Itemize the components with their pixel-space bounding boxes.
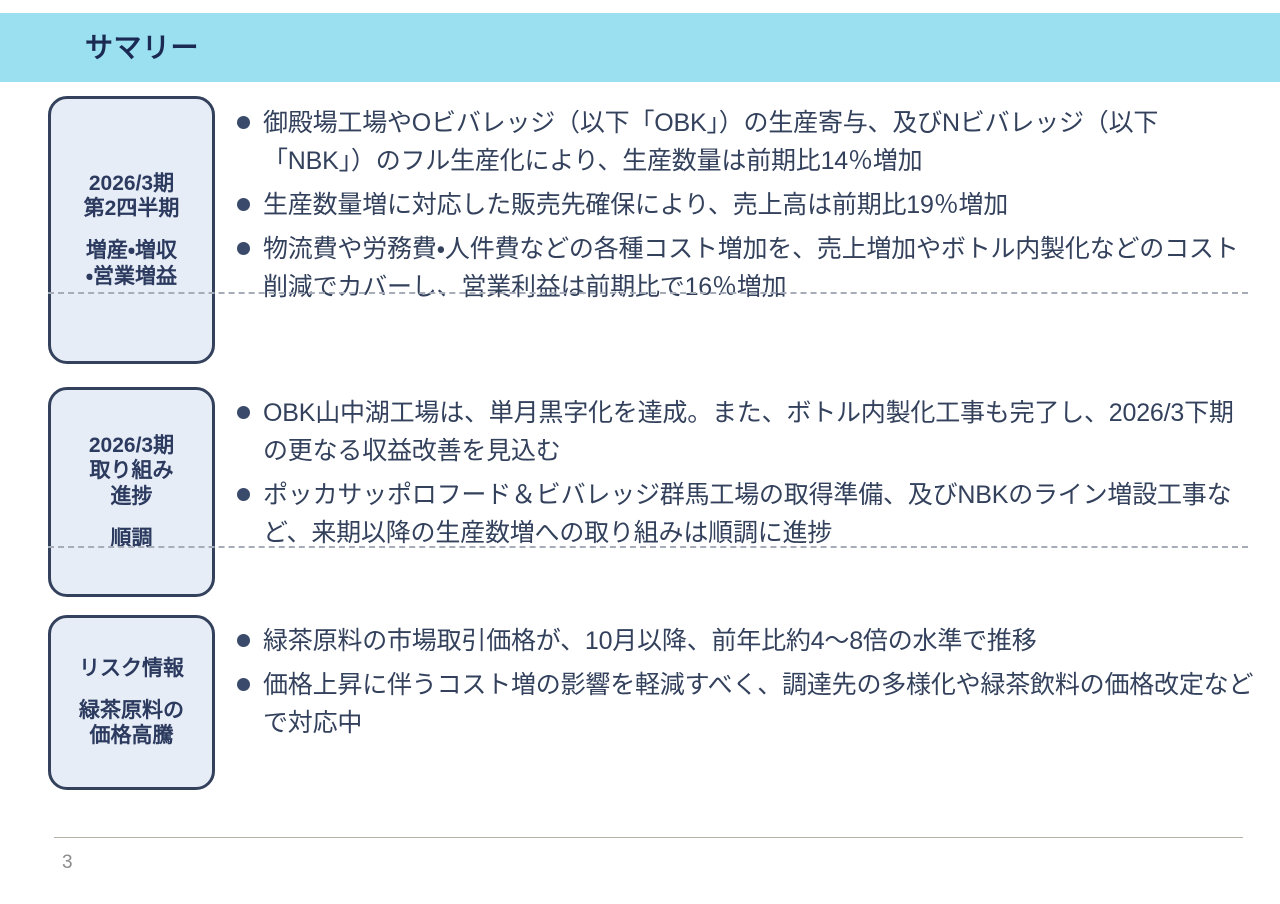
bullet-text: 価格上昇に伴うコスト増の影響を軽減すべく、調達先の多様化や緑茶飲料の価格改定など…	[263, 666, 1258, 742]
section-label-line: 増産・増収	[86, 238, 177, 264]
bullet-text: ポッカサッポロフード＆ビバレッジ群馬工場の取得準備、及びNBKのライン増設工事な…	[263, 476, 1258, 552]
bullet-item: 緑茶原料の市場取引価格が、10月以降、前年比約4〜8倍の水準で推移	[237, 622, 1258, 660]
bullet-item: 御殿場工場やOビバレッジ（以下「OBK」）の生産寄与、及びNビバレッジ（以下「N…	[237, 104, 1258, 180]
bullet-item: OBK山中湖工場は、単月黒字化を達成。また、ボトル内製化工事も完了し、2026/…	[237, 394, 1258, 470]
summary-section-3: リスク情報 緑茶原料の 価格高騰 緑茶原料の市場取引価格が、10月以降、前年比約…	[0, 606, 1280, 796]
summary-sections: 2026/3期 第2四半期 増産・増収 ・営業増益 御殿場工場やOビバレッジ（以…	[0, 88, 1280, 796]
bullet-item: 物流費や労務費・人件費などの各種コスト増加を、売上増加やボトル内製化などのコスト…	[237, 230, 1258, 306]
bullet-text: 生産数量増に対応した販売先確保により、売上高は前期比19％増加	[263, 186, 1258, 224]
bullet-text: 緑茶原料の市場取引価格が、10月以降、前年比約4〜8倍の水準で推移	[263, 622, 1258, 660]
section-label-line: 2026/3期	[89, 433, 174, 459]
bullet-dot-icon	[237, 634, 250, 647]
bullet-dot-icon	[237, 406, 250, 419]
bullet-text: OBK山中湖工場は、単月黒字化を達成。また、ボトル内製化工事も完了し、2026/…	[263, 394, 1258, 470]
summary-section-2: 2026/3期 取り組み 進捗 順調 OBK山中湖工場は、単月黒字化を達成。また…	[0, 378, 1280, 606]
bullet-dot-icon	[237, 198, 250, 211]
section-divider	[48, 292, 1248, 294]
bullet-item: 生産数量増に対応した販売先確保により、売上高は前期比19％増加	[237, 186, 1258, 224]
section-bullet-list-3: 緑茶原料の市場取引価格が、10月以降、前年比約4〜8倍の水準で推移 価格上昇に伴…	[215, 622, 1280, 742]
slide-header-bar: サマリー	[0, 13, 1280, 82]
bullet-text: 物流費や労務費・人件費などの各種コスト増加を、売上増加やボトル内製化などのコスト…	[263, 230, 1258, 306]
bullet-item: ポッカサッポロフード＆ビバレッジ群馬工場の取得準備、及びNBKのライン増設工事な…	[237, 476, 1258, 552]
section-label-line: 2026/3期	[89, 171, 174, 197]
bullet-text: 御殿場工場やOビバレッジ（以下「OBK」）の生産寄与、及びNビバレッジ（以下「N…	[263, 104, 1258, 180]
summary-section-1: 2026/3期 第2四半期 増産・増収 ・営業増益 御殿場工場やOビバレッジ（以…	[0, 88, 1280, 378]
section-label-line: 進捗	[111, 484, 153, 510]
section-divider	[48, 546, 1248, 548]
section-label-line: 緑茶原料の	[79, 698, 184, 724]
footer-rule	[54, 837, 1243, 838]
section-label-box-1: 2026/3期 第2四半期 増産・増収 ・営業増益	[48, 96, 215, 364]
section-label-line: リスク情報	[79, 656, 184, 682]
section-bullet-list-2: OBK山中湖工場は、単月黒字化を達成。また、ボトル内製化工事も完了し、2026/…	[215, 394, 1280, 552]
bullet-item: 価格上昇に伴うコスト増の影響を軽減すべく、調達先の多様化や緑茶飲料の価格改定など…	[237, 666, 1258, 742]
bullet-dot-icon	[237, 242, 250, 255]
section-label-line: 取り組み	[90, 458, 174, 484]
page-title: サマリー	[85, 34, 199, 62]
bullet-dot-icon	[237, 116, 250, 129]
section-label-box-3: リスク情報 緑茶原料の 価格高騰	[48, 615, 215, 790]
section-bullet-list-1: 御殿場工場やOビバレッジ（以下「OBK」）の生産寄与、及びNビバレッジ（以下「N…	[215, 104, 1280, 306]
section-label-box-2: 2026/3期 取り組み 進捗 順調	[48, 387, 215, 597]
bullet-dot-icon	[237, 488, 250, 501]
section-label-line: 価格高騰	[90, 723, 174, 749]
bullet-dot-icon	[237, 678, 250, 691]
section-label-line: 第2四半期	[84, 196, 180, 222]
page-number: 3	[62, 853, 73, 872]
section-label-line: ・営業増益	[86, 264, 177, 290]
